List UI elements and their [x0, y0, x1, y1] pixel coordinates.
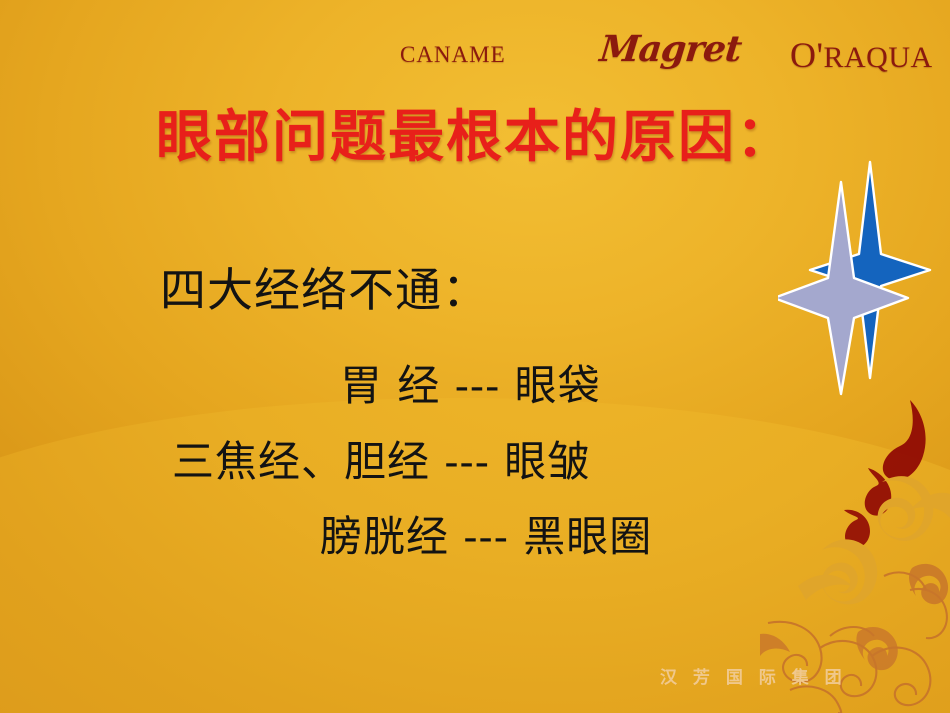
presentation-slide: caname Magret O'RAQUA 眼部问题最根本的原因： 四大经络不通… — [0, 0, 950, 713]
slide-title: 眼部问题最根本的原因： — [0, 92, 950, 173]
slide-subheading: 四大经络不通： — [160, 254, 489, 320]
oraqua-logo: O'RAQUA — [790, 34, 933, 76]
magret-logo: Magret — [598, 28, 743, 70]
meridian-item-2: 三焦经、胆经 --- 眼皱 — [172, 428, 590, 489]
meridian-item-3: 膀胱经 --- 黑眼圈 — [320, 503, 652, 564]
oraqua-logo-lead: O' — [790, 35, 823, 75]
company-footer-label: 汉 芳 国 际 集 团 — [660, 663, 847, 688]
brand-logo-row: caname Magret O'RAQUA — [0, 14, 950, 64]
caname-logo: caname — [400, 34, 506, 71]
oraqua-logo-rest: RAQUA — [823, 41, 932, 74]
meridian-item-1: 胃 经 --- 眼袋 — [340, 352, 601, 413]
